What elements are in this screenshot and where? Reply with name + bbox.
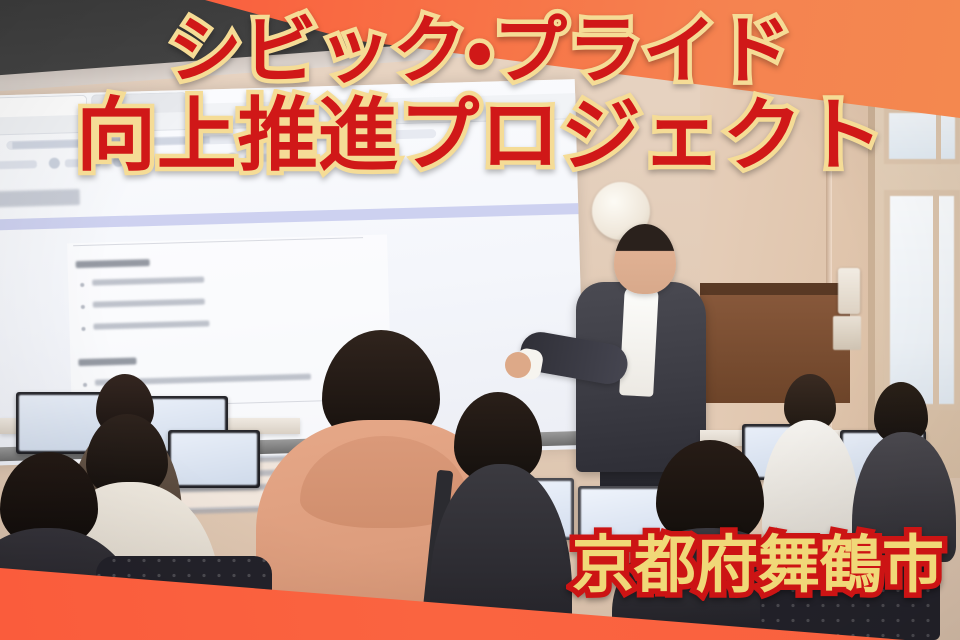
bookmark-favicon xyxy=(143,155,154,166)
window-mullion xyxy=(933,190,939,410)
desktop-monitor xyxy=(168,430,260,488)
window-pane xyxy=(884,190,960,410)
page-list-item xyxy=(93,320,209,329)
bookmark-favicon xyxy=(49,158,60,169)
window-transom-mullion xyxy=(936,108,941,164)
bookmark-item xyxy=(245,153,277,162)
presenter-shirt xyxy=(619,285,659,397)
chair-back xyxy=(760,556,940,640)
browser-tab xyxy=(0,95,88,118)
page-section-heading xyxy=(76,259,150,268)
page-list-item xyxy=(93,299,205,308)
bookmark-favicon xyxy=(113,156,124,167)
wall-phone-base xyxy=(833,316,861,350)
banner-image: シビック・プライド 向上推進プロジェクト 京都府舞鶴市 xyxy=(0,0,960,640)
bookmark-favicon xyxy=(227,153,238,164)
browser-tab-inactive xyxy=(91,92,188,115)
wood-cabinet-top-edge xyxy=(700,283,850,295)
bookmark-item xyxy=(163,155,211,164)
page-list-item xyxy=(92,277,204,286)
bookmark-item xyxy=(0,160,37,169)
presenter-hand xyxy=(505,352,531,378)
bookmark-item xyxy=(65,158,101,167)
wall-phone-handset xyxy=(838,268,860,314)
page-accent-rule xyxy=(0,203,578,232)
page-section-heading xyxy=(78,357,136,366)
page-heading-blur xyxy=(0,189,80,208)
